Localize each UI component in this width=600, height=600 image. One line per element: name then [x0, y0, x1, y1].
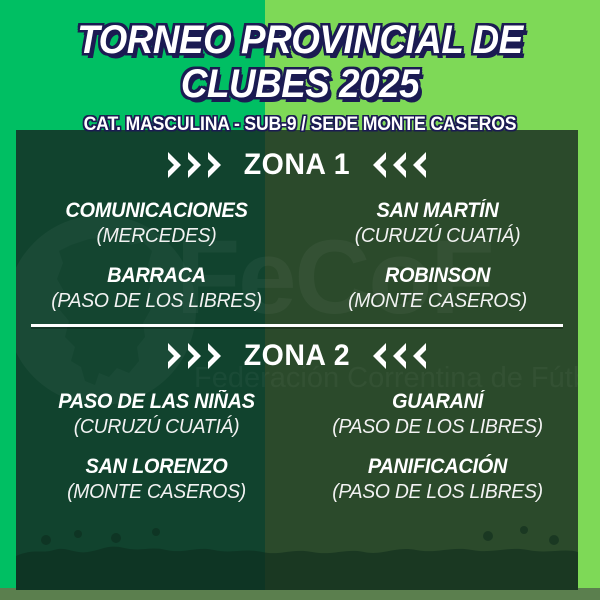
zone-block-1: ZONA 1 COMUNICACIONES (MERCEDES) SAN MAR… [16, 130, 578, 314]
zone-header-2: ZONA 2 [16, 333, 578, 379]
team-city: (PASO DE LOS LIBRES) [26, 288, 287, 314]
team-name: GUARANÍ [310, 389, 566, 414]
team-city: (PASO DE LOS LIBRES) [307, 414, 568, 440]
chevron-right-icon [166, 150, 185, 180]
team-card: COMUNICACIONES (MERCEDES) [16, 198, 297, 249]
team-card: PASO DE LAS NIÑAS (CURUZÚ CUATIÁ) [16, 389, 297, 440]
page-subtitle: CAT. MASCULINA - SUB-9 / SEDE MONTE CASE… [21, 106, 579, 136]
chevrons-left-group [369, 150, 428, 180]
team-card: BARRACA (PASO DE LOS LIBRES) [16, 263, 297, 314]
team-city: (MONTE CASEROS) [307, 288, 568, 314]
chevrons-right-group [166, 150, 225, 180]
chevron-left-icon [409, 341, 428, 371]
team-card: SAN LORENZO (MONTE CASEROS) [16, 454, 297, 505]
title-line-2: CLUBES 2025 [181, 62, 419, 106]
chevron-left-icon [389, 341, 408, 371]
team-grid-1: COMUNICACIONES (MERCEDES) SAN MARTÍN (CU… [16, 188, 578, 314]
tournament-poster: TORNEO PROVINCIAL DE CLUBES 2025 CAT. MA… [0, 0, 600, 600]
zone-header-1: ZONA 1 [16, 142, 578, 188]
zone-label-1: ZONA 1 [244, 148, 350, 182]
team-card: PANIFICACIÓN (PASO DE LOS LIBRES) [297, 454, 578, 505]
zones-panel: FeCoF Federación Correntina de Fútbol [16, 130, 578, 590]
team-card: SAN MARTÍN (CURUZÚ CUATIÁ) [297, 198, 578, 249]
chevron-right-icon [186, 150, 205, 180]
team-city: (CURUZÚ CUATIÁ) [307, 223, 568, 249]
zones-content: ZONA 1 COMUNICACIONES (MERCEDES) SAN MAR… [16, 130, 578, 590]
poster-header: TORNEO PROVINCIAL DE CLUBES 2025 CAT. MA… [0, 0, 600, 136]
team-name: PANIFICACIÓN [310, 454, 566, 479]
chevron-left-icon [369, 150, 388, 180]
chevron-right-icon [206, 150, 225, 180]
chevron-right-icon [206, 341, 225, 371]
chevron-left-icon [409, 150, 428, 180]
zone-label-2: ZONA 2 [244, 339, 350, 373]
team-name: SAN MARTÍN [310, 198, 566, 223]
chevrons-left-group [369, 341, 428, 371]
chevron-left-icon [369, 341, 388, 371]
team-name: PASO DE LAS NIÑAS [29, 389, 285, 414]
page-title: TORNEO PROVINCIAL DE CLUBES 2025 [24, 0, 576, 106]
team-name: COMUNICACIONES [29, 198, 285, 223]
team-city: (MERCEDES) [26, 223, 287, 249]
team-card: GUARANÍ (PASO DE LOS LIBRES) [297, 389, 578, 440]
chevrons-right-group [166, 341, 225, 371]
title-line-1: TORNEO PROVINCIAL DE [77, 18, 522, 62]
team-city: (PASO DE LOS LIBRES) [307, 479, 568, 505]
team-name: ROBINSON [310, 263, 566, 288]
team-card: ROBINSON (MONTE CASEROS) [297, 263, 578, 314]
chevron-right-icon [186, 341, 205, 371]
team-city: (CURUZÚ CUATIÁ) [26, 414, 287, 440]
zone-block-2: ZONA 2 PASO DE LAS NIÑAS (CURUZÚ CUATIÁ)… [16, 327, 578, 505]
team-name: BARRACA [29, 263, 285, 288]
team-city: (MONTE CASEROS) [26, 479, 287, 505]
team-name: SAN LORENZO [29, 454, 285, 479]
team-grid-2: PASO DE LAS NIÑAS (CURUZÚ CUATIÁ) GUARAN… [16, 379, 578, 505]
chevron-right-icon [166, 341, 185, 371]
chevron-left-icon [389, 150, 408, 180]
